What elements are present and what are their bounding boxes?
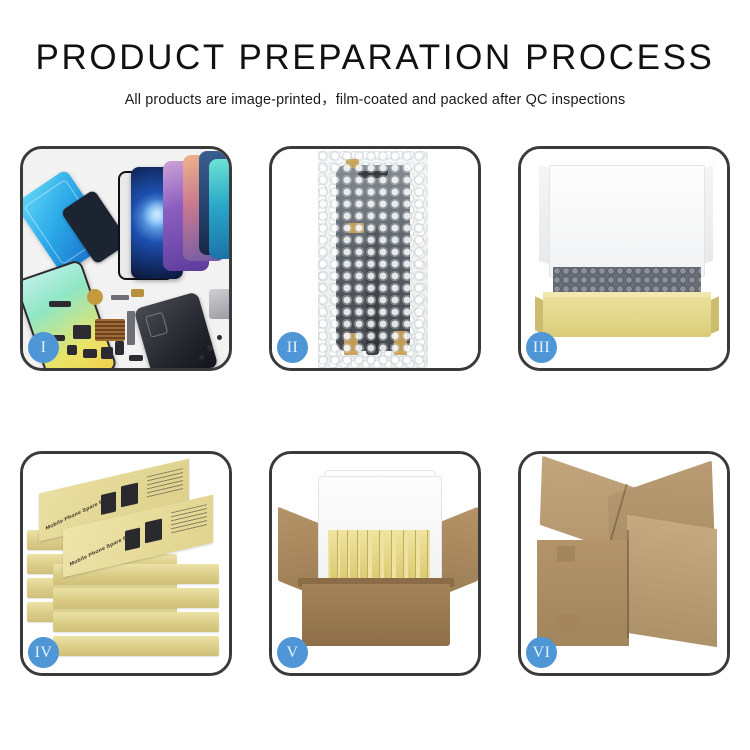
- box-lid-icon: [549, 165, 705, 277]
- small-part-icon: [49, 301, 71, 307]
- process-step-panel-1[interactable]: I: [20, 146, 232, 371]
- phone-rear-housing-icon: [134, 291, 219, 368]
- inner-box-icon: [408, 530, 416, 584]
- step-badge-4: IV: [28, 637, 59, 668]
- screw-icon: [199, 355, 204, 360]
- process-step-panel-3[interactable]: III: [518, 146, 730, 371]
- gold-bracket-icon: [131, 289, 144, 297]
- screw-icon: [217, 335, 222, 340]
- gold-component-icon: [87, 289, 103, 305]
- camera-module-icon: [73, 325, 91, 339]
- step-badge-6: VI: [526, 637, 557, 668]
- product-photo-icon: [125, 528, 140, 551]
- step-badge-3: III: [526, 332, 557, 363]
- stacked-box-icon: [53, 612, 219, 632]
- step-badge-2: II: [277, 332, 308, 363]
- inner-box-icon: [340, 530, 348, 584]
- header: PRODUCT PREPARATION PROCESS All products…: [0, 0, 750, 109]
- stacked-box-icon: [53, 588, 219, 608]
- carton-tape-icon: [557, 546, 575, 562]
- tool-icon: [209, 289, 229, 319]
- infographic-page: PRODUCT PREPARATION PROCESS All products…: [0, 0, 750, 750]
- carton-front-icon: [537, 540, 629, 646]
- long-flex-cable-icon: [127, 311, 135, 345]
- stacked-box-icon: [53, 636, 219, 656]
- speaker-icon: [83, 349, 97, 358]
- screw-icon: [207, 345, 213, 351]
- inner-box-icon: [396, 530, 404, 584]
- teal-display-phone-icon: [209, 159, 229, 259]
- inner-box-icon: [420, 530, 428, 584]
- product-photo-icon: [145, 518, 162, 543]
- inner-box-icon: [360, 530, 368, 584]
- bubble-bag-icon: [318, 151, 428, 368]
- inner-box-icon: [350, 530, 358, 584]
- step-badge-5: V: [277, 637, 308, 668]
- product-photo-icon: [101, 492, 116, 515]
- button-part-icon: [115, 341, 124, 355]
- bubble-texture: [318, 151, 428, 368]
- label-spec-lines: [171, 504, 207, 534]
- carton-corner-seam: [627, 530, 629, 638]
- process-step-panel-6[interactable]: VI: [518, 451, 730, 676]
- process-step-panel-2[interactable]: II: [269, 146, 481, 371]
- flex-cable-icon: [111, 295, 129, 300]
- process-step-panel-5[interactable]: V: [269, 451, 481, 676]
- carton-tape-icon: [559, 614, 577, 630]
- carton-right-side-icon: [627, 515, 717, 647]
- step-badge-1: I: [28, 332, 59, 363]
- carton-body-icon: [302, 584, 450, 646]
- inner-box-icon: [384, 530, 392, 584]
- vibrator-icon: [101, 347, 113, 359]
- label-spec-lines: [147, 468, 183, 498]
- inner-box-icon: [330, 530, 338, 584]
- process-step-panel-4[interactable]: Mobile Phone Spare Parts Mobile Phone Sp…: [20, 451, 232, 676]
- inner-boxes-icon: [328, 530, 430, 584]
- product-photo-icon: [121, 482, 138, 507]
- page-subtitle: All products are image-printed，film-coat…: [0, 88, 750, 109]
- sim-tray-icon: [67, 345, 77, 355]
- yellow-box-front-icon: [543, 297, 711, 337]
- antenna-icon: [129, 355, 143, 361]
- logic-board-icon: [95, 319, 125, 341]
- inner-box-icon: [372, 530, 380, 584]
- page-title: PRODUCT PREPARATION PROCESS: [0, 40, 750, 75]
- process-step-grid: I II: [20, 146, 730, 676]
